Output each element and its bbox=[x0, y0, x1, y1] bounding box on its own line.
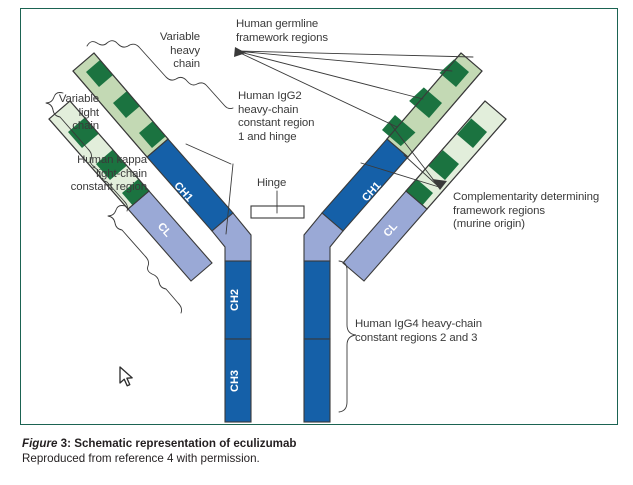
label-variable-light-chain: Variable light chain bbox=[9, 93, 99, 134]
ch2-label: CH2 bbox=[229, 289, 241, 311]
caption-title-line: Figure 3: Schematic representation of ec… bbox=[22, 436, 612, 451]
hinge-connector bbox=[251, 206, 304, 218]
caption-figure-word: Figure bbox=[22, 437, 57, 450]
label-human-igg2-constant-region: Human IgG2 heavy-chain constant region 1… bbox=[238, 90, 344, 144]
ch3-label: CH3 bbox=[229, 370, 241, 392]
label-variable-heavy-chain: Variable heavy chain bbox=[105, 31, 200, 72]
figure-panel: CH1 CH1 CL CL CH2 CH3 bbox=[20, 8, 618, 425]
figure-caption: Figure 3: Schematic representation of ec… bbox=[22, 436, 612, 466]
caption-title-text: Schematic representation of eculizumab bbox=[74, 437, 296, 450]
label-human-kappa-constant-region: Human kappa light-chain constant region bbox=[35, 154, 147, 195]
right-ch3-segment bbox=[304, 339, 330, 422]
brace-human-igg4 bbox=[339, 261, 356, 412]
right-ch2-segment bbox=[304, 261, 330, 339]
label-human-germline-framework-regions: Human germline framework regions bbox=[236, 18, 366, 45]
label-complementarity-determining-regions: Complementarity determining framework re… bbox=[453, 191, 618, 232]
label-hinge: Hinge bbox=[257, 177, 307, 191]
caption-credit-line: Reproduced from reference 4 with permiss… bbox=[22, 451, 612, 466]
leader-igg2-to-ch1 bbox=[186, 144, 231, 164]
label-human-igg4-constant-regions: Human IgG4 heavy-chain constant regions … bbox=[355, 318, 530, 345]
